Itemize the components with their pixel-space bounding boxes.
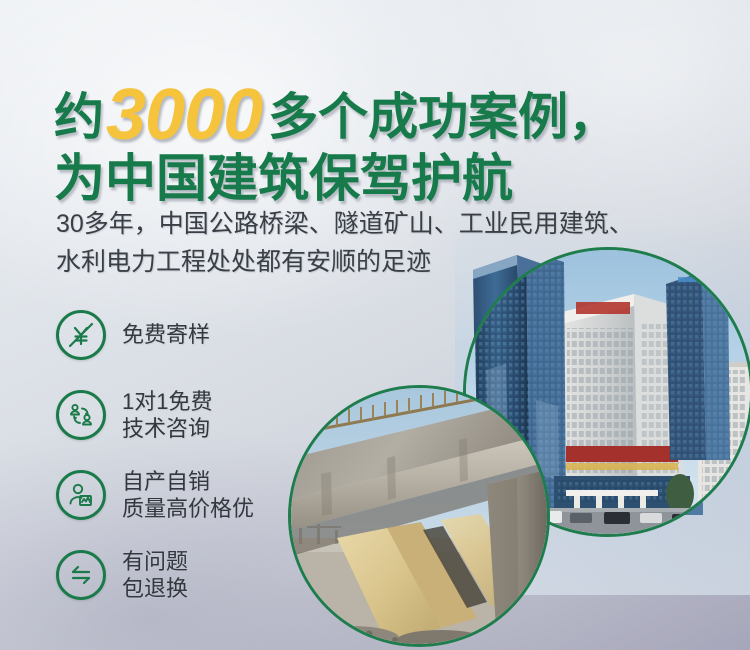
feature-item-return-exchange: 有问题 包退换	[56, 535, 254, 615]
feature-label: 免费寄样	[122, 321, 210, 349]
feature-list: 免费寄样 1对1免费 技术咨询	[56, 295, 254, 615]
bridge-photo-art	[291, 388, 547, 644]
feature-label-line-1: 有问题	[122, 548, 188, 576]
feature-label: 有问题 包退换	[122, 548, 188, 603]
subcopy-line-2: 水利电力工程处处都有安顺的足迹	[56, 243, 634, 281]
feature-label: 1对1免费 技术咨询	[122, 388, 212, 443]
headline-line-2: 为中国建筑保驾护航	[54, 153, 618, 205]
feature-label-line-2: 包退换	[122, 575, 188, 603]
feature-label-line-2: 技术咨询	[122, 415, 212, 443]
one-on-one-icon	[56, 390, 106, 440]
feature-item-self-production: 自产自销 质量高价格优	[56, 455, 254, 535]
feature-label-line-1: 1对1免费	[122, 388, 212, 416]
feature-label-line-2: 质量高价格优	[122, 495, 254, 523]
subcopy-line-1: 30多年，中国公路桥梁、隧道矿山、工业民用建筑、	[56, 205, 634, 243]
headline-number: 3000	[104, 75, 268, 155]
feature-label-line-1: 自产自销	[122, 468, 254, 496]
return-exchange-icon	[56, 550, 106, 600]
headline: 约3000多个成功案例， 为中国建筑保驾护航	[54, 74, 618, 205]
subcopy: 30多年，中国公路桥梁、隧道矿山、工业民用建筑、 水利电力工程处处都有安顺的足迹	[56, 205, 634, 281]
free-sample-icon	[56, 310, 106, 360]
headline-line-1: 约3000多个成功案例，	[54, 74, 618, 147]
bridge-photo	[288, 385, 550, 647]
headline-prefix: 约	[54, 89, 104, 145]
feature-label: 自产自销 质量高价格优	[122, 468, 254, 523]
headline-suffix: 多个成功案例，	[268, 89, 618, 145]
self-production-icon	[56, 470, 106, 520]
feature-item-one-on-one: 1对1免费 技术咨询	[56, 375, 254, 455]
feature-label-line-1: 免费寄样	[122, 322, 210, 347]
promo-banner: 约3000多个成功案例， 为中国建筑保驾护航 30多年，中国公路桥梁、隧道矿山、…	[0, 0, 750, 650]
feature-item-free-sample: 免费寄样	[56, 295, 254, 375]
